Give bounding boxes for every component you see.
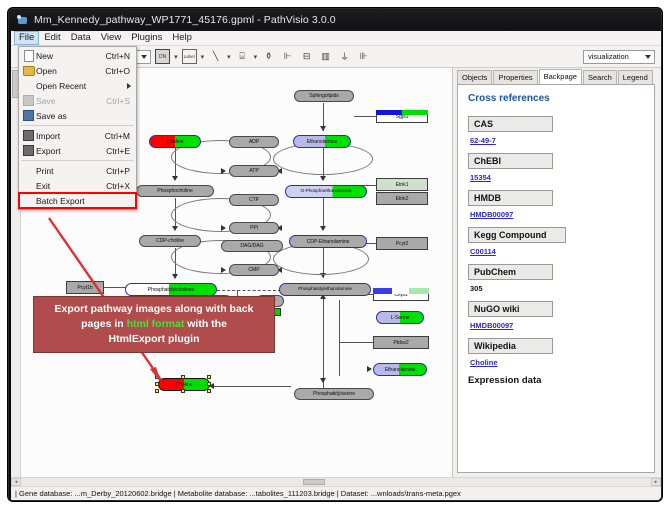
pathvisio-icon: [17, 15, 28, 26]
menu-edit[interactable]: Edit: [39, 31, 65, 45]
window-title: Mm_Kennedy_pathway_WP1771_45176.gpml - P…: [34, 14, 336, 26]
blank-icon: [21, 79, 36, 92]
menu-item-label: Export: [36, 146, 106, 156]
application-window: Mm_Kennedy_pathway_WP1771_45176.gpml - P…: [8, 8, 662, 501]
save-as-icon: [21, 109, 36, 122]
tab-objects[interactable]: Objects: [457, 70, 492, 84]
expression-data-heading: Expression data: [468, 375, 646, 386]
xref-block-nugo: NuGO wiki HMDB00097: [468, 301, 646, 330]
shape-icon[interactable]: ⊩: [280, 49, 295, 64]
xref-value[interactable]: 62-49-7: [470, 136, 646, 145]
menu-data[interactable]: Data: [66, 31, 96, 45]
chevron-down-icon[interactable]: ▾: [201, 53, 205, 61]
import-icon: [21, 129, 36, 142]
xref-name: NuGO wiki: [468, 301, 553, 317]
menu-item-label: Print: [36, 166, 106, 176]
menu-file[interactable]: File: [14, 31, 39, 45]
tab-properties[interactable]: Properties: [493, 70, 537, 84]
annotation-callout: Export pathway images along with back pa…: [33, 296, 275, 353]
menu-item-label: Save: [36, 96, 106, 106]
callout-line-2: pages in html format with the: [40, 317, 268, 332]
xref-name: HMDB: [468, 190, 553, 206]
menu-item-accel: Ctrl+P: [106, 166, 136, 176]
backpage-title: Cross references: [468, 93, 646, 104]
menu-item-accel: Ctrl+O: [105, 66, 136, 76]
file-menu-item-import[interactable]: Import Ctrl+M: [19, 128, 136, 143]
callout-line-3: HtmlExport plugin: [40, 332, 268, 347]
file-menu-dropdown[interactable]: New Ctrl+N Open Ctrl+O Open Recent Save …: [18, 46, 137, 210]
group-icon[interactable]: ⏚: [337, 49, 352, 64]
chevron-right-icon: [127, 83, 131, 89]
side-panel: Objects Properties Backpage Search Legen…: [453, 68, 661, 477]
chevron-down-icon: [141, 55, 147, 59]
callout-highlight: html format: [127, 318, 185, 330]
xref-block-wikipedia: Wikipedia Choline: [468, 338, 646, 367]
chevron-down-icon[interactable]: ▾: [254, 53, 258, 61]
open-folder-icon: [21, 64, 36, 77]
file-menu-item-open-recent[interactable]: Open Recent: [19, 78, 136, 93]
scrollbar-thumb[interactable]: [303, 479, 325, 485]
file-menu-item-save: Save Ctrl+S: [19, 93, 136, 108]
xref-value: 305: [470, 284, 646, 293]
xref-link[interactable]: C00114: [470, 247, 496, 256]
menu-bar: File Edit Data View Plugins Help: [11, 31, 661, 46]
menu-item-label: Save as: [36, 111, 130, 121]
xref-name: PubChem: [468, 264, 553, 280]
xref-link[interactable]: 62-49-7: [470, 136, 496, 145]
scroll-right-arrow-icon[interactable]: ▸: [651, 478, 661, 486]
xref-link[interactable]: HMDB00097: [470, 210, 513, 219]
menu-item-accel: Ctrl+M: [105, 131, 136, 141]
xref-link[interactable]: Choline: [470, 358, 498, 367]
xref-value[interactable]: Choline: [470, 358, 646, 367]
blank-icon: [21, 194, 36, 207]
callout-line-1: Export pathway images along with back: [40, 302, 268, 317]
line-icon[interactable]: ╲: [208, 49, 223, 64]
xref-block-kegg: Kegg Compound C00114: [468, 227, 646, 256]
xref-block-cas: CAS 62-49-7: [468, 116, 646, 145]
menu-plugins[interactable]: Plugins: [126, 31, 167, 45]
chevron-down-icon[interactable]: ▾: [227, 53, 231, 61]
align-icon[interactable]: ⊟: [299, 49, 314, 64]
side-panel-tabs: Objects Properties Backpage Search Legen…: [453, 68, 661, 84]
menu-item-accel: Ctrl+X: [106, 181, 136, 191]
tab-legend[interactable]: Legend: [618, 70, 653, 84]
xref-name: CAS: [468, 116, 553, 132]
menu-item-label: Open: [36, 66, 105, 76]
menu-separator: [21, 125, 134, 126]
file-menu-item-batch-export[interactable]: Batch Export: [19, 193, 136, 208]
chevron-down-icon[interactable]: ▾: [174, 53, 178, 61]
xref-block-chebi: ChEBI 15354: [468, 153, 646, 182]
menu-item-label: Batch Export: [36, 196, 136, 206]
label-icon[interactable]: Label: [182, 49, 197, 64]
callout-line-2-pre: pages in: [81, 318, 127, 330]
menu-separator: [21, 160, 134, 161]
menu-item-label: New: [36, 51, 106, 61]
new-document-icon: [21, 49, 36, 62]
status-bar: | Gene database: ...m_Derby_20120602.bri…: [11, 486, 661, 500]
file-menu-item-print[interactable]: Print Ctrl+P: [19, 163, 136, 178]
file-menu-item-new[interactable]: New Ctrl+N: [19, 48, 136, 63]
tab-backpage[interactable]: Backpage: [539, 69, 582, 84]
blank-icon: [21, 179, 36, 192]
title-bar[interactable]: Mm_Kennedy_pathway_WP1771_45176.gpml - P…: [9, 9, 661, 31]
visualization-combo[interactable]: visualization: [583, 50, 655, 64]
export-icon: [21, 144, 36, 157]
order-icon[interactable]: ⊪: [356, 49, 371, 64]
xref-block-hmdb: HMDB HMDB00097: [468, 190, 646, 219]
backpage-content: Cross references CAS 62-49-7 ChEBI 15354…: [457, 84, 655, 473]
menu-item-label: Import: [36, 131, 105, 141]
horizontal-scrollbar[interactable]: ◂ ▸: [11, 477, 661, 486]
menu-item-accel: Ctrl+S: [106, 96, 136, 106]
blank-icon: [21, 164, 36, 177]
menu-item-accel: Ctrl+N: [106, 51, 136, 61]
menu-help[interactable]: Help: [167, 31, 197, 45]
stack-icon[interactable]: ▥: [318, 49, 333, 64]
menu-item-label: Exit: [36, 181, 106, 191]
tab-search[interactable]: Search: [583, 70, 617, 84]
xref-name: Kegg Compound: [468, 227, 566, 243]
interaction-icon[interactable]: ⌸: [235, 49, 250, 64]
xref-name: ChEBI: [468, 153, 553, 169]
xref-value[interactable]: C00114: [470, 247, 646, 256]
file-menu-item-save-as[interactable]: Save as: [19, 108, 136, 123]
datanode-icon[interactable]: DN: [155, 49, 170, 64]
visualization-value: visualization: [588, 52, 629, 61]
scroll-left-arrow-icon[interactable]: ◂: [11, 478, 21, 486]
file-menu-item-export[interactable]: Export Ctrl+E: [19, 143, 136, 158]
anchor-icon[interactable]: ⚱: [261, 49, 276, 64]
callout-line-2-post: with the: [184, 318, 227, 330]
xref-value[interactable]: HMDB00097: [470, 321, 646, 330]
menu-item-label: Open Recent: [36, 81, 136, 91]
file-menu-item-exit[interactable]: Exit Ctrl+X: [19, 178, 136, 193]
chevron-down-icon: [645, 55, 651, 59]
xref-name: Wikipedia: [468, 338, 553, 354]
status-text: | Gene database: ...m_Derby_20120602.bri…: [15, 489, 461, 498]
screenshot-root: Mm_Kennedy_pathway_WP1771_45176.gpml - P…: [0, 0, 670, 509]
save-disabled-icon: [21, 94, 36, 107]
menu-item-accel: Ctrl+E: [106, 146, 136, 156]
xref-link[interactable]: HMDB00097: [470, 321, 513, 330]
xref-value[interactable]: 15354: [470, 173, 646, 182]
xref-value[interactable]: HMDB00097: [470, 210, 646, 219]
file-menu-item-open[interactable]: Open Ctrl+O: [19, 63, 136, 78]
menu-view[interactable]: View: [96, 31, 126, 45]
xref-block-pubchem: PubChem 305: [468, 264, 646, 293]
xref-link[interactable]: 15354: [470, 173, 491, 182]
